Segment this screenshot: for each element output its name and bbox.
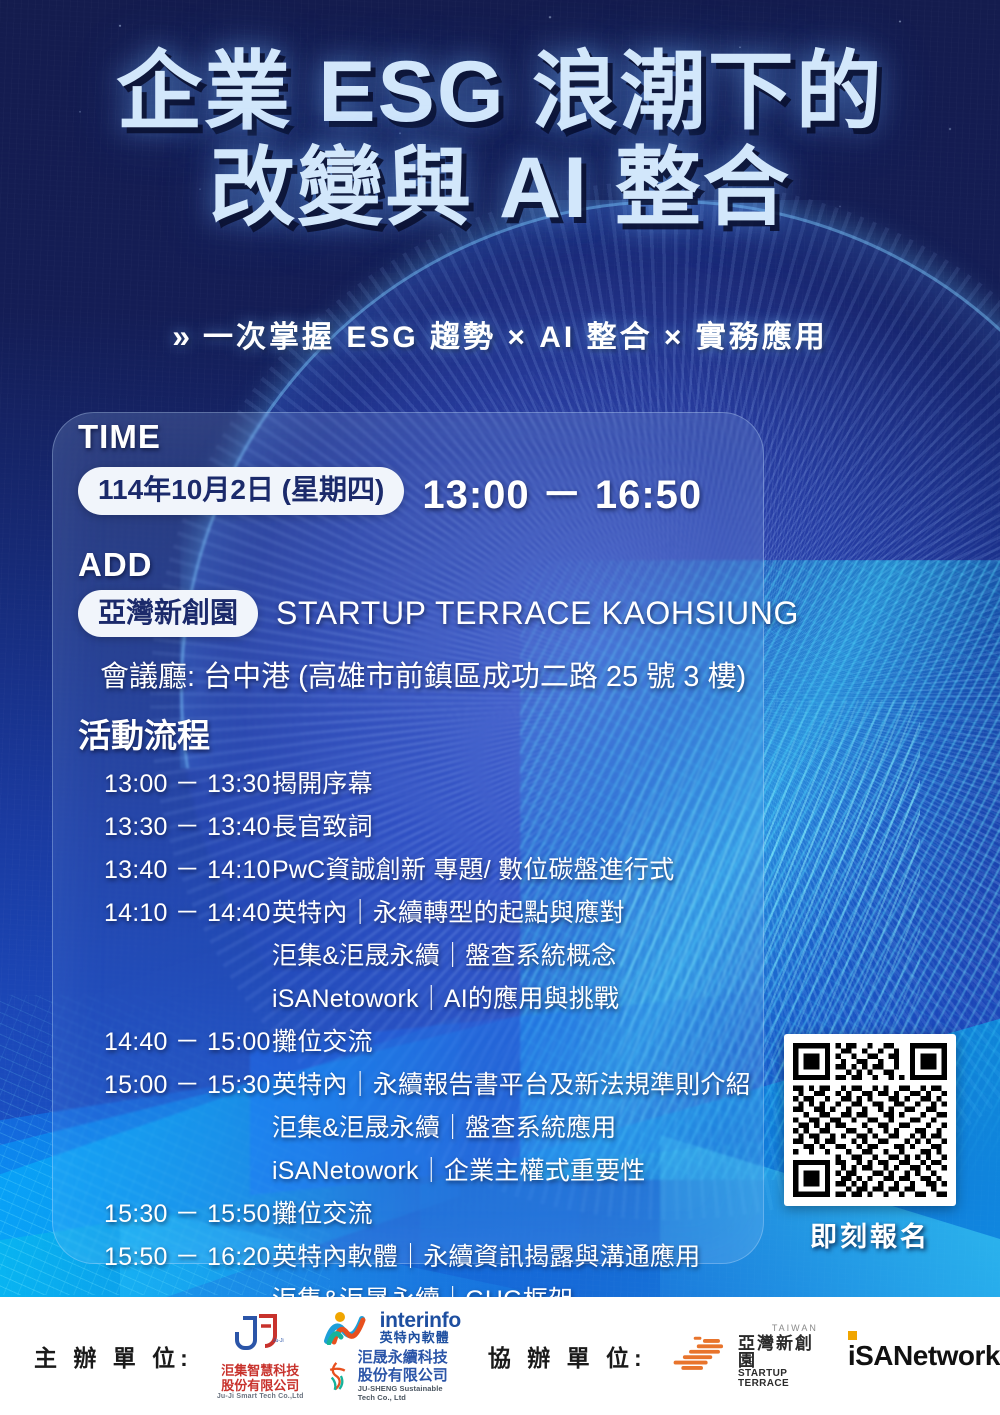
jusheng-mark-icon (324, 1356, 350, 1396)
organizer-label: 主 辦 單 位: (34, 1339, 193, 1373)
poster-headline: 企業 ESG 浪潮下的 改變與 AI 整合 (0, 44, 1000, 237)
coorganizer-label: 協 辦 單 位: (488, 1339, 647, 1373)
time-row: 114年10月2日 (星期四) 13:00 － 16:50 (78, 462, 778, 520)
agenda-row-desc: 攤位交流 (272, 1194, 373, 1230)
juji-logo: Ju-Ji 洰集智慧科技股份有限公司 Ju-Ji Smart Tech Co.,… (217, 1312, 304, 1401)
agenda-row-desc: 洰集&洰晟永續｜盤查系統應用 (272, 1108, 616, 1144)
agenda-row: 13:40 － 14:10PwC資誠創新 專題/ 數位碳盤進行式 (104, 850, 778, 886)
agenda-row-time: 13:00 － 13:30 (104, 764, 272, 800)
jusheng-logo-en: JU-SHENG Sustainable Tech Co., Ltd (358, 1384, 462, 1402)
agenda-row-desc: 長官致詞 (272, 807, 373, 843)
interinfo-title: interinfo (380, 1310, 461, 1331)
agenda-row-desc: 英特內｜永續轉型的起點與應對 (272, 893, 625, 929)
event-poster: 企業 ESG 浪潮下的 改變與 AI 整合 »一次掌握 ESG 趨勢 × AI … (0, 0, 1000, 1415)
agenda-row: iSANetowork｜AI的應用與挑戰 (104, 979, 778, 1015)
double-chevron-icon: » (172, 318, 193, 354)
svg-text:Ju-Ji: Ju-Ji (273, 1338, 284, 1344)
agenda-row: 14:40 － 15:00攤位交流 (104, 1022, 778, 1058)
interinfo-mark-icon (324, 1311, 372, 1345)
agenda-row-time: 13:40 － 14:10 (104, 850, 272, 886)
isanetwork-dot-icon (848, 1331, 857, 1340)
venue-name-en: STARTUP TERRACE KAOHSIUNG (276, 595, 799, 632)
venue-hall-address: 會議廳: 台中港 (高雄市前鎮區成功二路 25 號 3 樓) (100, 653, 778, 695)
interinfo-subtitle: 英特內軟體 (380, 1331, 461, 1345)
agenda-row-time: 15:50 － 16:20 (104, 1237, 272, 1273)
agenda-title: 活動流程 (78, 709, 778, 757)
jusheng-logo-cn: 洰晟永續科技股份有限公司 (358, 1349, 462, 1384)
qr-caption: 即刻報名 (784, 1215, 956, 1254)
agenda-row: 洰集&洰晟永續｜盤查系統應用 (104, 1108, 778, 1144)
agenda-row-time: 14:10 － 14:40 (104, 893, 272, 929)
agenda-row-time: 15:30 － 15:50 (104, 1194, 272, 1230)
poster-footer: 主 辦 單 位: Ju-Ji 洰集智慧科技股份有限公司 Ju-Ji Smart … (0, 1297, 1000, 1415)
venue-badge: 亞灣新創園 (78, 590, 258, 637)
address-row: 亞灣新創園 STARTUP TERRACE KAOHSIUNG (78, 590, 778, 637)
address-label: ADD (78, 548, 778, 581)
event-time-range: 13:00 － 16:50 (422, 462, 702, 520)
isanetwork-text: iSANetwork (848, 1340, 1000, 1371)
agenda-row-time: 13:30 － 13:40 (104, 807, 272, 843)
startup-terrace-logo: TAIWAN 亞灣新創園 STARTUP TERRACE (669, 1324, 818, 1389)
isanetwork-logo: iSANetwork (848, 1340, 1000, 1372)
agenda-row: 13:00 － 13:30揭開序幕 (104, 764, 778, 800)
startup-terrace-en: STARTUP TERRACE (738, 1369, 818, 1389)
time-label: TIME (78, 420, 778, 453)
jusheng-logo: 洰晟永續科技股份有限公司 JU-SHENG Sustainable Tech C… (324, 1349, 462, 1402)
agenda-row-desc: 攤位交流 (272, 1022, 373, 1058)
agenda-row: 15:50 － 16:20英特內軟體｜永續資訊揭露與溝通應用 (104, 1237, 778, 1273)
agenda-row: 15:30 － 15:50攤位交流 (104, 1194, 778, 1230)
agenda-row-desc: iSANetowork｜AI的應用與挑戰 (272, 979, 619, 1015)
agenda-row: 15:00 － 15:30英特內｜永續報告書平台及新法規準則介紹 (104, 1065, 778, 1101)
interinfo-jusheng-logos: interinfo 英特內軟體 洰晟永續科技股份有限公司 JU-SHENG Su… (324, 1310, 462, 1402)
startup-terrace-taiwan: TAIWAN (772, 1324, 818, 1333)
startup-terrace-cn: 亞灣新創園 (738, 1335, 818, 1369)
qr-code-image[interactable] (784, 1034, 956, 1206)
juji-mark-icon: Ju-Ji (233, 1312, 287, 1362)
agenda-row-desc: iSANetowork｜企業主權式重要性 (272, 1151, 646, 1187)
juji-logo-cn: 洰集智慧科技股份有限公司 (221, 1364, 299, 1394)
agenda-row-time: 15:00 － 15:30 (104, 1065, 272, 1101)
agenda-row-desc: 英特內軟體｜永續資訊揭露與溝通應用 (272, 1237, 700, 1273)
subtitle-text: 一次掌握 ESG 趨勢 × AI 整合 × 實務應用 (203, 321, 828, 354)
interinfo-logo: interinfo 英特內軟體 (324, 1310, 462, 1345)
headline-line-2: 改變與 AI 整合 (0, 140, 1000, 236)
agenda-row-desc: 揭開序幕 (272, 764, 373, 800)
juji-logo-en: Ju-Ji Smart Tech Co.,Ltd (217, 1393, 304, 1400)
headline-line-1: 企業 ESG 浪潮下的 (0, 44, 1000, 140)
poster-subtitle: »一次掌握 ESG 趨勢 × AI 整合 × 實務應用 (0, 312, 1000, 356)
agenda-row-desc: PwC資誠創新 專題/ 數位碳盤進行式 (272, 850, 674, 886)
event-date-badge: 114年10月2日 (星期四) (78, 467, 404, 514)
agenda-row-desc: 英特內｜永續報告書平台及新法規準則介紹 (272, 1065, 751, 1101)
agenda-row: iSANetowork｜企業主權式重要性 (104, 1151, 778, 1187)
agenda-row: 13:30 － 13:40長官致詞 (104, 807, 778, 843)
startup-terrace-mark-icon (669, 1330, 732, 1382)
agenda-row: 14:10 － 14:40英特內｜永續轉型的起點與應對 (104, 893, 778, 929)
agenda-row-time: 14:40 － 15:00 (104, 1022, 272, 1058)
agenda-row: 洰集&洰晟永續｜盤查系統概念 (104, 936, 778, 972)
info-content: TIME 114年10月2日 (星期四) 13:00 － 16:50 ADD 亞… (78, 420, 778, 1402)
registration-qr-block[interactable]: 即刻報名 (784, 1034, 956, 1254)
agenda-row-desc: 洰集&洰晟永續｜盤查系統概念 (272, 936, 616, 972)
